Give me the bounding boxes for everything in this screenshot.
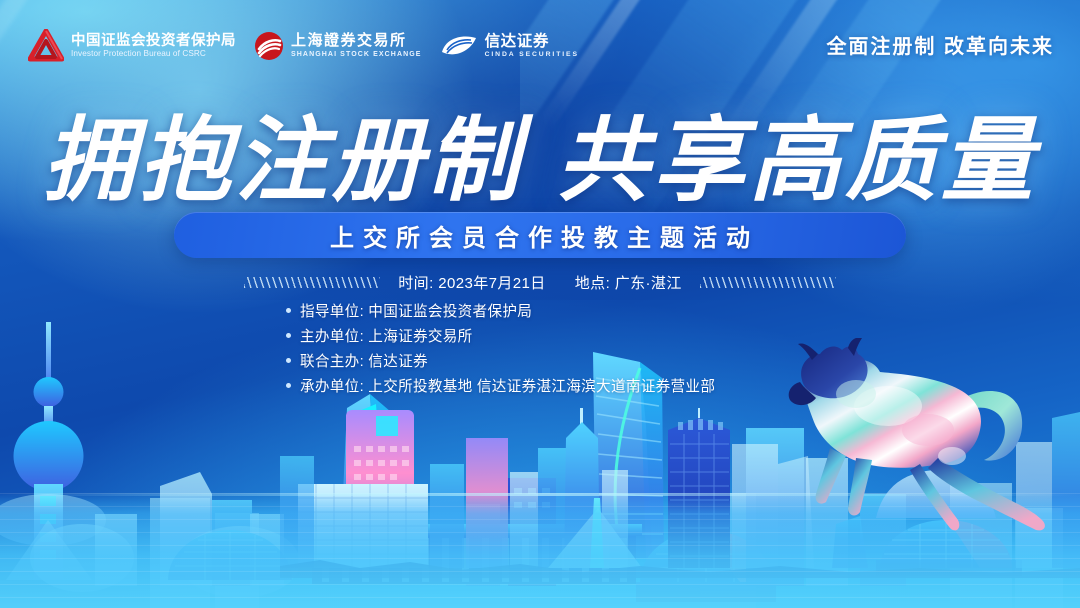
- org-role: 主办单位:: [300, 329, 364, 345]
- event-meta-text: 时间: 2023年7月21日 地点: 广东·湛江: [398, 272, 681, 293]
- list-item: 主办单位: 上海证券交易所: [286, 325, 715, 346]
- event-poster: 中国证监会投资者保护局 Investor Protection Bureau o…: [0, 0, 1080, 608]
- org-line: 主办单位: 上海证券交易所: [300, 325, 473, 346]
- org-line: 承办单位: 上交所投教基地 信达证券湛江海滨大道南证券营业部: [300, 375, 715, 396]
- main-title-left: 拥抱注册制: [43, 110, 523, 212]
- logo-sse-label-cn: 上海證券交易所: [291, 34, 422, 49]
- logo-csrc-label-cn: 中国证监会投资者保护局: [71, 34, 236, 49]
- hatch-decor-left: [244, 277, 380, 288]
- cinda-wave-logo-icon: [440, 32, 478, 60]
- bullet-icon: [286, 308, 291, 313]
- list-item: 指导单位: 中国证监会投资者保护局: [286, 300, 715, 321]
- header-slogan: 全面注册制 改革向未来: [826, 30, 1054, 59]
- logo-sse-label-en: SHANGHAI STOCK EXCHANGE: [291, 51, 422, 58]
- org-name: 信达证券: [368, 354, 428, 370]
- time-value: 2023年7月21日: [438, 275, 545, 292]
- subtitle-text: 上交所会员合作投教主题活动: [321, 218, 759, 253]
- logo-csrc-label-en: Investor Protection Bureau of CSRC: [71, 50, 236, 58]
- logo-cinda-securities: 信达证券 CINDA SECURITIES: [440, 32, 579, 60]
- org-line: 指导单位: 中国证监会投资者保护局: [300, 300, 532, 321]
- main-title: 拥抱注册制共享高质量: [0, 86, 1080, 219]
- csrc-triangle-logo-icon: [28, 29, 64, 63]
- bullet-icon: [286, 333, 291, 338]
- main-title-right: 共享高质量: [557, 110, 1037, 212]
- logo-cinda-label-cn: 信达证券: [485, 34, 579, 50]
- logo-cinda-label-en: CINDA SECURITIES: [485, 52, 579, 59]
- org-role: 联合主办:: [300, 354, 364, 370]
- place-value: 广东·湛江: [615, 275, 682, 292]
- logo-shanghai-stock-exchange: 上海證券交易所 SHANGHAI STOCK EXCHANGE: [254, 31, 422, 61]
- hatch-decor-right: [700, 277, 836, 288]
- organization-list: 指导单位: 中国证监会投资者保护局 主办单位: 上海证券交易所 联合主办: 信达…: [286, 300, 715, 396]
- bullet-icon: [286, 358, 291, 363]
- list-item: 承办单位: 上交所投教基地 信达证券湛江海滨大道南证券营业部: [286, 375, 715, 396]
- sse-circle-logo-icon: [254, 31, 284, 61]
- event-meta-row: 时间: 2023年7月21日 地点: 广东·湛江: [0, 272, 1080, 293]
- logo-bar: 中国证监会投资者保护局 Investor Protection Bureau o…: [28, 24, 579, 68]
- charging-bull-illustration: [770, 338, 1070, 538]
- org-role: 承办单位:: [300, 379, 364, 395]
- org-line: 联合主办: 信达证券: [300, 350, 428, 371]
- subtitle-banner: 上交所会员合作投教主题活动: [174, 212, 906, 258]
- bullet-icon: [286, 383, 291, 388]
- time-label: 时间:: [398, 275, 433, 292]
- org-name: 上交所投教基地 信达证券湛江海滨大道南证券营业部: [368, 379, 715, 395]
- org-name: 中国证监会投资者保护局: [368, 304, 532, 320]
- list-item: 联合主办: 信达证券: [286, 350, 715, 371]
- org-name: 上海证券交易所: [368, 329, 472, 345]
- logo-csrc-investor-protection-bureau: 中国证监会投资者保护局 Investor Protection Bureau o…: [28, 29, 236, 63]
- place-label: 地点:: [575, 275, 610, 292]
- org-role: 指导单位:: [300, 304, 364, 320]
